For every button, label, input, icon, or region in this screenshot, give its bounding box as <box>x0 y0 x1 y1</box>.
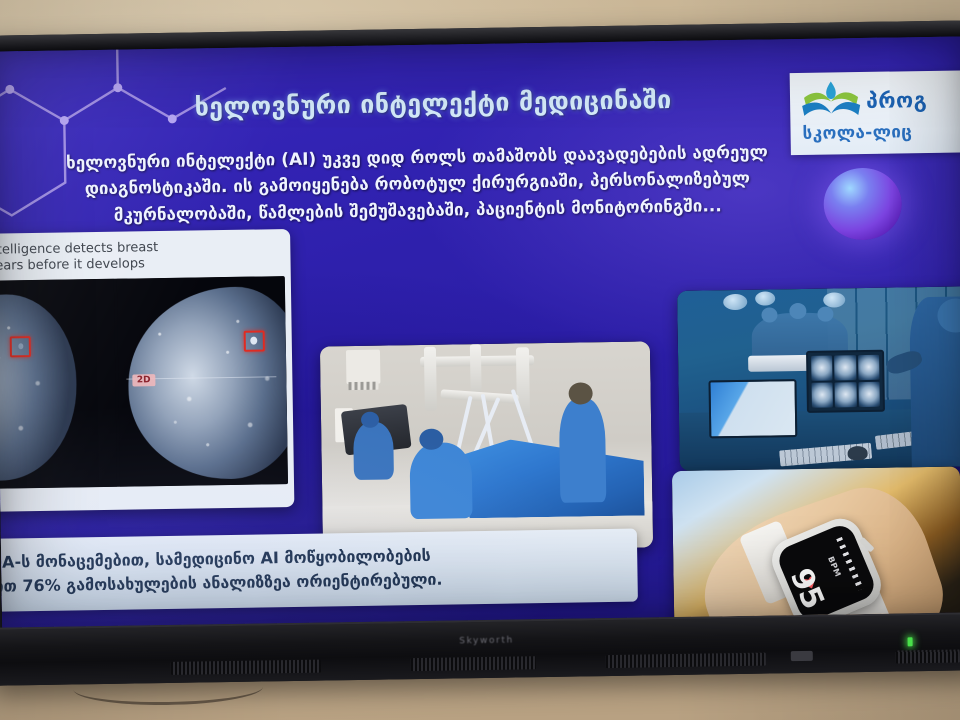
logo-subtitle: სკოლა-ლიც <box>802 122 912 144</box>
control-room-scene <box>677 286 960 471</box>
heart-rate-unit: BPM <box>826 555 843 578</box>
computer-mouse <box>848 446 868 460</box>
scan-thumbnail <box>811 355 833 380</box>
breast-tissue <box>0 293 78 482</box>
book-flame-icon <box>800 79 863 124</box>
operating-room-scene <box>320 341 653 552</box>
monitor-left-screen <box>710 381 795 436</box>
glowing-sphere-icon <box>823 167 902 240</box>
heart-rate-value: 95 <box>785 565 828 613</box>
scan-thumbnail <box>812 382 834 407</box>
mammogram-right: 2D <box>116 276 288 487</box>
robot-arm <box>470 344 482 396</box>
school-logo: პროგ სკოლა-ლიც <box>790 70 960 155</box>
speaker-grille <box>896 650 960 664</box>
tv-brand-label: Skyworth <box>459 636 514 647</box>
roi-marker <box>18 343 23 349</box>
presentation-slide: პროგ სკოლა-ლიც ხელოვნური ინტელექტი მედიც… <box>0 36 960 627</box>
roi-box <box>243 330 264 351</box>
standing-surgeon <box>559 398 607 503</box>
statistic-caption-box: ს FDA-ს მონაცემებით, სამედიცინო AI მოწყო… <box>0 529 638 613</box>
surgical-drape <box>453 437 644 518</box>
mammogram-caption-line: cer 5 years before it develops <box>0 254 281 275</box>
monitor-right <box>806 350 885 413</box>
television: პროგ სკოლა-ლიც ხელოვნური ინტელექტი მედიც… <box>0 20 960 686</box>
mammogram-caption: ficial intelligence detects breast cer 5… <box>0 235 285 281</box>
or-control-station-photo <box>677 286 960 471</box>
heart-rate-graph <box>836 537 863 591</box>
speaker-grille <box>606 653 766 669</box>
scan-tag: 2D <box>132 374 156 386</box>
robotic-surgery-photo <box>320 341 653 552</box>
surgical-lamp <box>755 291 775 305</box>
scan-thumbnail <box>835 382 857 407</box>
tv-port <box>791 651 813 661</box>
mammogram-left <box>0 278 117 489</box>
tissue-texture <box>0 293 78 482</box>
roi-marker <box>250 337 257 345</box>
seated-surgeon <box>353 421 394 480</box>
tv-screen: პროგ სკოლა-ლიც ხელოვნური ინტელექტი მედიც… <box>0 36 960 627</box>
room-scene: პროგ სკოლა-ლიც ხელოვნური ინტელექტი მედიც… <box>0 0 960 720</box>
robot-arm <box>424 347 437 411</box>
scan-thumbnail-grid <box>811 355 880 408</box>
roi-box <box>10 336 31 357</box>
ceiling-mount <box>346 350 381 385</box>
robot-arm <box>440 389 518 404</box>
slide-body-text: ხელოვნური ინტელექტი (AI) უკვე დიდ როლს თ… <box>17 139 818 231</box>
surgical-lamp <box>723 294 747 310</box>
scan-thumbnail <box>858 382 880 407</box>
power-led-indicator <box>908 637 913 646</box>
logo-row: პროგ <box>800 76 928 126</box>
monitor-left <box>708 379 797 438</box>
assisting-surgeon <box>409 442 472 519</box>
speaker-grille <box>411 656 536 671</box>
mammogram-images: 2D <box>0 276 288 489</box>
scan-thumbnail <box>834 355 856 380</box>
scan-thumbnail <box>858 355 880 380</box>
tv-cable <box>73 669 264 706</box>
ceiling-vent <box>348 382 378 390</box>
mammogram-card: ficial intelligence detects breast cer 5… <box>0 229 294 512</box>
smartwatch-heart-rate-photo: 95 BPM <box>672 467 960 628</box>
logo-name: პროგ <box>866 89 927 111</box>
